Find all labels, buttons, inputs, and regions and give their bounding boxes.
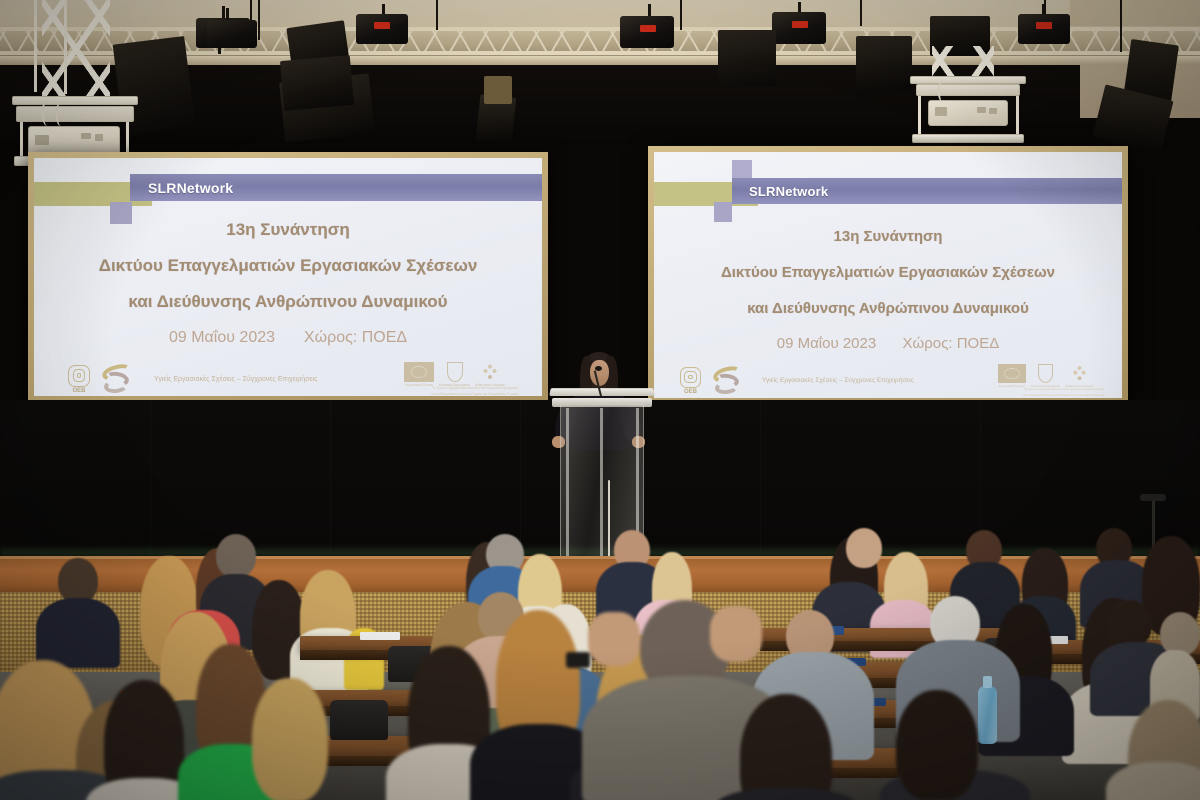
- lift-drop-rod: [1016, 96, 1019, 136]
- projector-port: [977, 107, 986, 113]
- projector-port: [95, 134, 103, 141]
- projector-lens-plate: [912, 134, 1024, 143]
- slide-title-line-1: 13η Συνάντηση: [34, 220, 542, 240]
- ceiling-cable: [1120, 0, 1122, 52]
- audience-raised-hand: [588, 612, 640, 666]
- eu-fineprint-2: και το Ευρωπαϊκό Κοινωνικό Ταμείο της Ευ…: [400, 392, 542, 396]
- stage-mic-head-icon: [1140, 494, 1166, 501]
- slide-surface-left: SLRNetwork 13η Συνάντηση Δικτύου Επαγγελ…: [34, 158, 542, 396]
- slide-header-band-right: SLRNetwork: [732, 178, 1122, 204]
- eu-flag-logo: Ευρωπαϊκή Ένωση: [404, 362, 434, 387]
- wristwatch: [566, 652, 590, 668]
- stage-spotlight: [620, 16, 674, 48]
- oeb-emblem-icon: [68, 365, 90, 387]
- spotlight-yoke: [226, 8, 229, 20]
- slide-title-line-2: Δικτύου Επαγγελματιών Εργασιακών Σχέσεων: [654, 264, 1122, 281]
- ceiling-cable: [436, 0, 438, 30]
- slide-surface-right: SLRNetwork 13η Συνάντηση Δικτύου Επαγγελ…: [654, 152, 1122, 398]
- lift-tray: [16, 106, 134, 122]
- eu-flag-logo: Ευρωπαϊκή Ένωση: [998, 364, 1026, 388]
- projector-port: [989, 108, 997, 114]
- spotlight-indicator: [640, 25, 656, 32]
- microphone-head-icon: [595, 366, 602, 371]
- slr-swirl-logo-icon: [100, 364, 134, 394]
- spotlight-indicator: [374, 22, 390, 29]
- slide-header-label: SLRNetwork: [148, 180, 233, 196]
- eu-fineprint-1: Το Έργο συγχρηματοδοτείται από την Κυπρι…: [400, 386, 542, 390]
- human-resources-logo: Ανθρώπινο Δυναμικό: [475, 362, 505, 387]
- cyprus-emblem-icon: [1038, 364, 1053, 383]
- podium-top-surface: [549, 388, 654, 396]
- stage-spotlight: [356, 14, 408, 44]
- oeb-emblem-icon: [680, 367, 701, 388]
- hr-network-icon: [479, 362, 501, 382]
- ceiling-cable: [860, 0, 862, 26]
- slide-title-line-2: Δικτύου Επαγγελματιών Εργασιακών Σχέσεων: [34, 256, 542, 276]
- eu-funding-logos-right: Ευρωπαϊκή Ένωση Κυπριακή Δημοκρατία Ανθρ…: [998, 364, 1093, 388]
- hr-network-icon: [1069, 364, 1090, 383]
- slide-date-venue-right: 09 Μαΐου 2023 Χώρος: ΠΟΕΔ: [654, 335, 1122, 352]
- projector-body-right: [928, 100, 1008, 126]
- audience-hair: [252, 678, 328, 800]
- stage-spotlight: [1018, 14, 1070, 44]
- cyprus-republic-logo: Κυπριακή Δημοκρατία: [1031, 364, 1060, 388]
- speaker-bracket: [484, 76, 512, 104]
- spotlight-indicator: [792, 21, 808, 28]
- slide-date: 09 Μαΐου 2023: [169, 329, 275, 346]
- eu-flag-icon: [404, 362, 434, 382]
- conference-hall-photo: SLRNetwork 13η Συνάντηση Δικτύου Επαγγελ…: [0, 0, 1200, 800]
- stage-spotlight: [772, 12, 826, 44]
- lift-tray: [916, 84, 1020, 96]
- eu-fineprint-2: και το Ευρωπαϊκό Κοινωνικό Ταμείο της Ευ…: [994, 393, 1122, 397]
- scissor-lift-arms: [42, 0, 110, 100]
- slide-venue: Χώρος: ΠΟΕΔ: [304, 329, 407, 346]
- auditorium-chair: [330, 700, 388, 740]
- projector-vent: [935, 107, 947, 116]
- water-bottle: [978, 686, 997, 744]
- lift-drop-rod: [918, 96, 921, 136]
- slide-footer-tagline: Υγιείς Εργασιακές Σχέσεις – Σύγχρονες Επ…: [154, 376, 318, 383]
- eu-funding-logos-left: Ευρωπαϊκή Ένωση Κυπριακή Δημοκρατία Ανθρ…: [404, 362, 505, 387]
- projector-cable: [56, 102, 68, 126]
- eu-fineprint-1: Το Έργο συγχρηματοδοτείται από την Κυπρι…: [994, 387, 1122, 391]
- oeb-label: OEB: [68, 388, 90, 394]
- podium-strut: [600, 408, 603, 574]
- slide-accent-square: [714, 202, 732, 222]
- oeb-label: OEB: [680, 389, 701, 395]
- lift-drop-rod: [20, 122, 23, 158]
- hanging-speaker: [280, 55, 354, 111]
- hanging-speaker: [718, 30, 776, 86]
- ceiling-cable: [258, 0, 260, 40]
- ceiling-cable: [680, 0, 682, 30]
- audience-head: [1108, 600, 1152, 648]
- desk-paper: [360, 632, 400, 640]
- projector-vent: [35, 135, 49, 145]
- podium-strut: [566, 408, 569, 574]
- slide-venue: Χώρος: ΠΟΕΔ: [903, 335, 1000, 352]
- projector-port: [81, 133, 91, 139]
- spotlight-indicator: [1036, 22, 1052, 29]
- eu-stars-icon: [1004, 368, 1020, 379]
- slide-header-label: SLRNetwork: [749, 184, 828, 199]
- audience-hair: [896, 690, 978, 800]
- cyprus-republic-logo: Κυπριακή Δημοκρατία: [439, 362, 470, 387]
- slide-date-venue-left: 09 Μαΐου 2023 Χώρος: ΠΟΕΔ: [34, 329, 542, 347]
- projection-screen-left: SLRNetwork 13η Συνάντηση Δικτύου Επαγγελ…: [28, 152, 548, 402]
- audience-head: [216, 534, 256, 578]
- lift-support-post: [64, 0, 67, 94]
- eu-stars-icon: [411, 366, 428, 377]
- projector-cable: [938, 80, 950, 102]
- slide-footer-tagline: Υγιείς Εργασιακές Σχέσεις – Σύγχρονες Επ…: [762, 377, 914, 384]
- audience-raised-hand: [710, 606, 762, 662]
- stage-spotlight: [207, 20, 257, 48]
- lift-support-post: [34, 0, 37, 92]
- cyprus-emblem-icon: [447, 362, 463, 382]
- human-resources-logo: Ανθρώπινο Δυναμικό: [1065, 364, 1093, 388]
- slide-title-line-1: 13η Συνάντηση: [654, 228, 1122, 245]
- audience-torso: [36, 598, 120, 668]
- oeb-logo: OEB: [68, 365, 90, 394]
- slide-header-band-left: SLRNetwork: [130, 174, 542, 201]
- projection-screen-right: SLRNetwork 13η Συνάντηση Δικτύου Επαγγελ…: [648, 146, 1128, 404]
- lift-upper-plate: [910, 76, 1026, 84]
- presenter-face: [590, 360, 609, 386]
- slide-title-line-3: και Διεύθυνσης Ανθρώπινου Δυναμικού: [654, 300, 1122, 317]
- projector-cable: [42, 100, 56, 126]
- lift-upper-plate: [12, 96, 138, 105]
- audience-head-bald: [846, 528, 882, 568]
- oeb-logo: OEB: [680, 367, 701, 395]
- slide-date: 09 Μαΐου 2023: [777, 335, 876, 352]
- eu-flag-icon: [998, 364, 1026, 383]
- slide-title-line-3: και Διεύθυνσης Ανθρώπινου Δυναμικού: [34, 292, 542, 312]
- ceiling-projector-lift-left: [8, 0, 158, 176]
- slr-swirl-logo-icon: [711, 366, 744, 395]
